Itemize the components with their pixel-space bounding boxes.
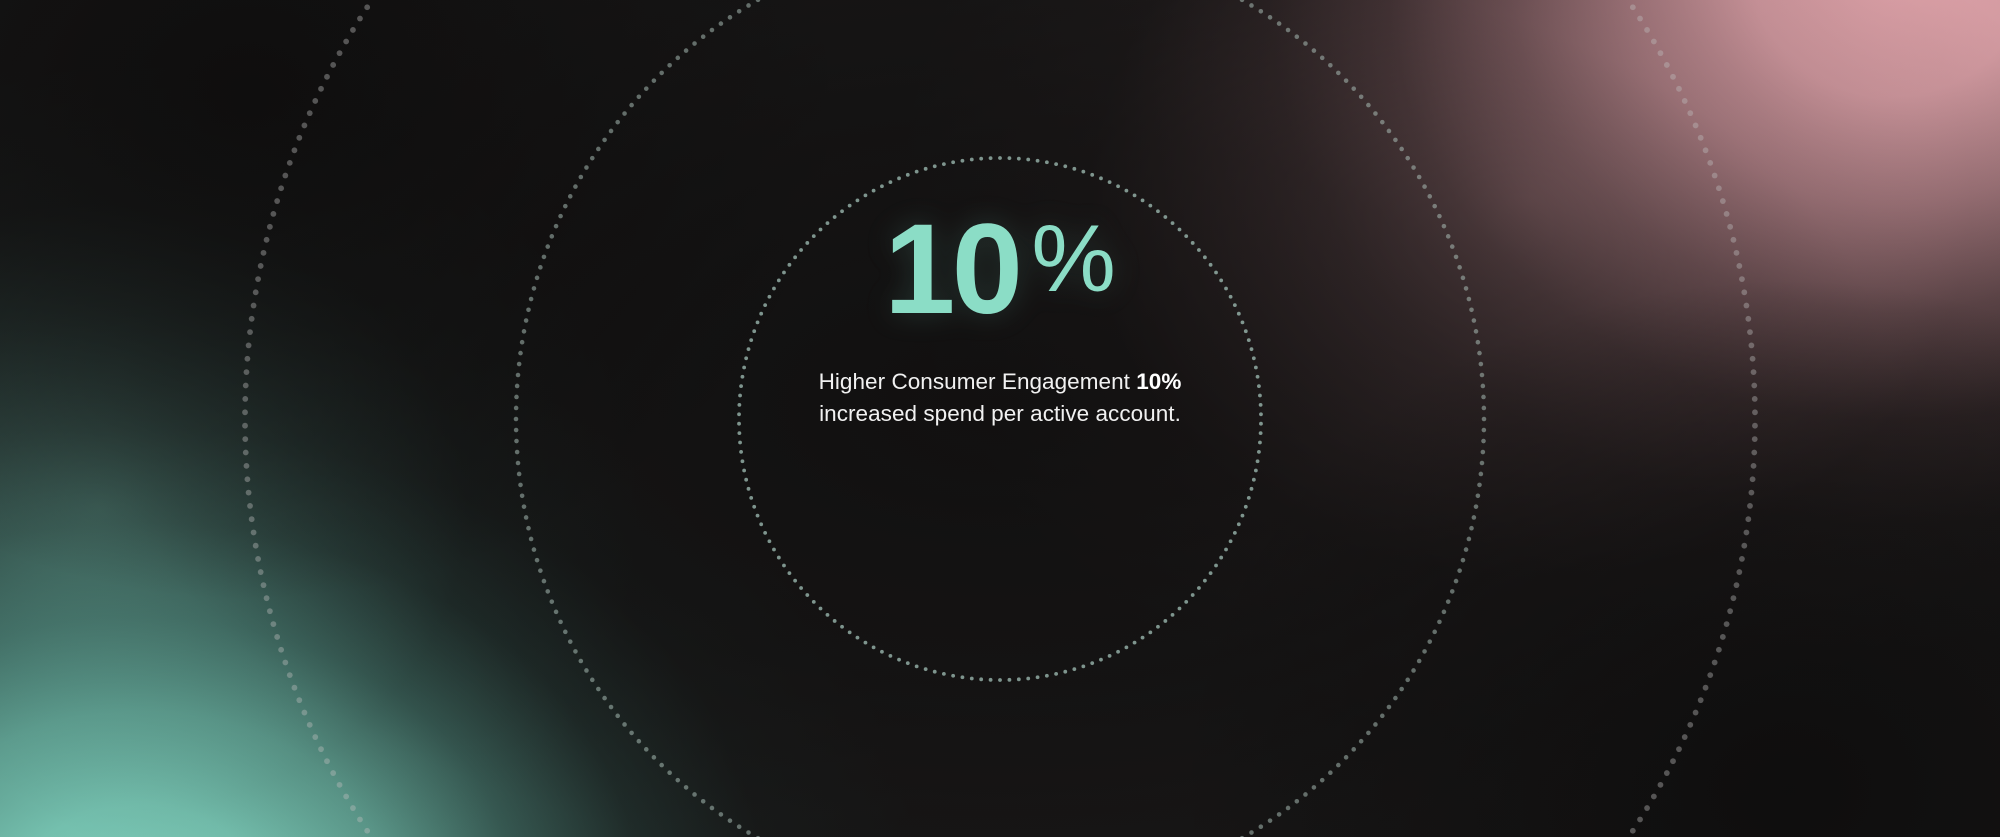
caption-line-2-prefix: Engagement xyxy=(1002,369,1136,394)
percent-sign: % xyxy=(1031,212,1115,307)
caption-line-1: Higher Consumer xyxy=(819,369,996,394)
stat-number: 10 xyxy=(884,206,1019,334)
stat-hero-banner: 10 % Higher Consumer Engagement 10% incr… xyxy=(0,0,2000,837)
caption-line-2-suffix: increased xyxy=(819,401,917,426)
caption-line-3: spend per active account. xyxy=(923,401,1181,426)
stat-headline: 10 % xyxy=(884,206,1116,334)
caption-emphasis-value: 10% xyxy=(1136,369,1181,394)
stat-content-block: 10 % Higher Consumer Engagement 10% incr… xyxy=(0,206,2000,431)
stat-caption: Higher Consumer Engagement 10% increased… xyxy=(800,366,1200,431)
